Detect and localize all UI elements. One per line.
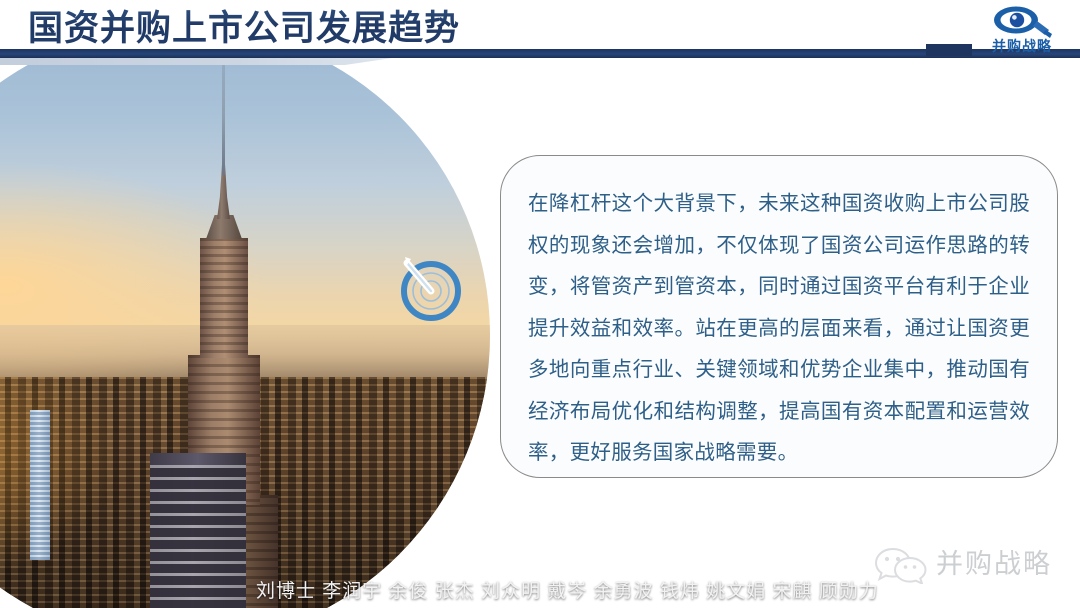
target-bullseye-arrow-icon <box>395 253 465 323</box>
empire-state-spire <box>222 65 225 175</box>
statement-card: 在降杠杆这个大背景下，未来这种国资收购上市公司股权的现象还会增加，不仅体现了国资… <box>500 155 1058 478</box>
header-accent-bar <box>0 58 392 65</box>
slide-header: 国资并购上市公司发展趋势 并购战略 <box>0 0 1080 58</box>
photo-sunlight-glow <box>0 377 170 608</box>
statement-text: 在降杠杆这个大背景下，未来这种国资收购上市公司股权的现象还会增加，不仅体现了国资… <box>528 183 1030 474</box>
wechat-icon <box>874 546 928 589</box>
wechat-watermark-label: 并购战略 <box>936 544 1052 584</box>
wechat-watermark: 并购战略 <box>874 542 1062 586</box>
empire-state-upper <box>200 238 248 358</box>
header-divider-bar <box>0 49 1080 58</box>
photo-grey-tower <box>150 465 246 608</box>
page-title: 国资并购上市公司发展趋势 <box>28 7 460 51</box>
author-line: 刘博士 李润宇 余俊 张杰 刘众明 戴岑 余勇波 钱炜 姚文娟 宋麒 顾勋力 <box>256 578 956 606</box>
logo-divider-block <box>926 44 972 56</box>
brand-logo: 并购战略 <box>976 4 1068 56</box>
hero-photo-circle-mask <box>0 65 490 608</box>
photo-glass-tower <box>30 410 50 560</box>
brand-logo-label: 并购战略 <box>976 36 1068 56</box>
hero-photo-city-skyline <box>0 65 490 608</box>
